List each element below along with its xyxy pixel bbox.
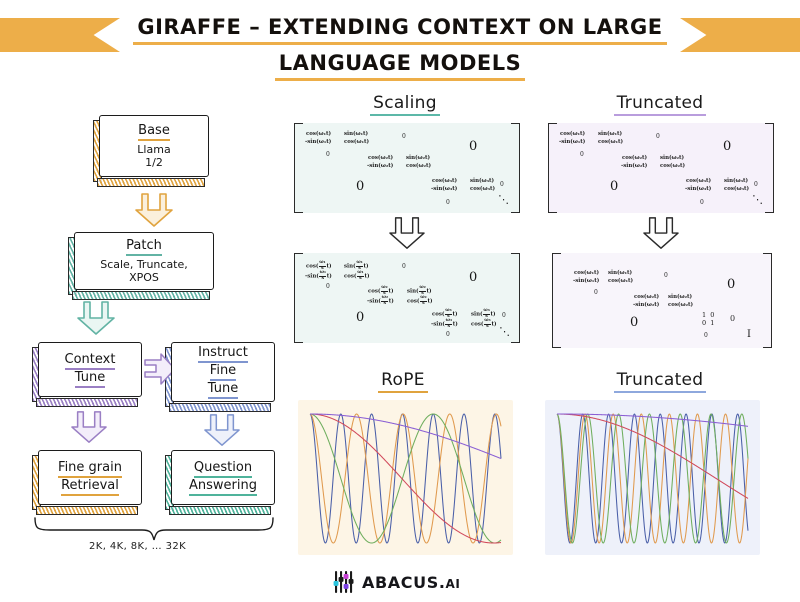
cell-r6c1: -sin(ω₃t) <box>685 186 711 193</box>
cell-r5c1: cos(ω₃t) <box>686 178 711 185</box>
identity-block-row1: 1 0 <box>702 311 714 319</box>
cell-scaled-r5c1: cos(ω₃st) <box>432 309 458 319</box>
chart-rope <box>298 400 513 555</box>
ellipsis-diagonal: ⋱ <box>498 193 510 206</box>
instruct-box-shadow-bottom <box>169 403 271 412</box>
zero-big-bottom-left: 0 <box>610 179 618 194</box>
heading-rope-plot-label: RoPE <box>378 370 428 393</box>
finegrain-box-shadow-bottom <box>36 506 138 515</box>
cell-scaled-r3c1: cos(ω₂st) <box>368 286 394 296</box>
flowchart-caption: 2K, 4K, 8K, … 32K <box>89 541 186 552</box>
chart-truncated-svg <box>545 400 760 555</box>
page-title: GIRAFFE – EXTENDING CONTEXT ON LARGE LAN… <box>130 14 670 81</box>
matrix-truncated-bottom: cos(ω₁t) sin(ω₁t) -sin(ω₁t) cos(ω₁t) 0 0… <box>552 253 772 348</box>
zero-small-3: 0 <box>754 181 758 188</box>
matrix-scaling-top: cos(ω₁t) sin(ω₁t) -sin(ω₁t) cos(ω₁t) 0 0… <box>294 123 520 213</box>
cell-r1c2: sin(ω₁t) <box>608 270 632 277</box>
heading-truncated-plot: Truncated <box>590 370 730 390</box>
arrow-scaling-down <box>388 216 426 252</box>
chart-series-line <box>310 414 501 543</box>
flow-box-question-sub1: Answering <box>189 478 257 496</box>
cell-r3c1: cos(ω₂t) <box>622 155 647 162</box>
cell-r3c1: cos(ω₂t) <box>634 294 659 301</box>
cell-r4c2: cos(ω₂t) <box>660 163 685 170</box>
arrow-patch-to-context <box>76 300 116 338</box>
title-line-1: GIRAFFE – EXTENDING CONTEXT ON LARGE <box>133 14 666 45</box>
zero-big-top-right: 0 <box>469 139 477 154</box>
chart-truncated <box>545 400 760 555</box>
cell-scaled-r2c1: -sin(ω₁st) <box>305 271 332 281</box>
flow-box-question-answering[interactable]: Question Answering <box>171 450 275 505</box>
cell-r2c2: cos(ω₁t) <box>344 139 369 146</box>
zero-small-1: 0 <box>594 289 598 296</box>
arrow-base-to-patch <box>134 192 174 230</box>
cell-r1c1: cos(ω₁t) <box>560 131 585 138</box>
flow-box-patch-sub1: Scale, Truncate, <box>100 258 188 271</box>
cell-r1c2: sin(ω₁t) <box>344 131 368 138</box>
zero-small-1: 0 <box>326 283 330 290</box>
flow-box-question-title: Question <box>194 460 252 478</box>
flow-box-patch-title: Patch <box>126 238 162 256</box>
heading-scaling-label: Scaling <box>370 93 440 116</box>
bracket-right <box>765 123 774 213</box>
flow-box-context-tune-title: Context <box>65 352 116 370</box>
cell-r1c2: sin(ω₁t) <box>598 131 622 138</box>
cell-r6c1: -sin(ω₃t) <box>431 186 457 193</box>
cell-r4c1: -sin(ω₂t) <box>367 163 393 170</box>
ellipsis-diagonal: ⋱ <box>499 325 511 338</box>
flow-box-instruct-fine-tune[interactable]: Instruct Fine Tune <box>171 342 275 402</box>
abacus-logo-text: ABACUS.AI <box>362 573 460 592</box>
cell-scaled-r2c2: cos(ω₁st) <box>344 271 370 281</box>
heading-truncated-matrix: Truncated <box>590 93 730 113</box>
matrix-truncated-top: cos(ω₁t) sin(ω₁t) -sin(ω₁t) cos(ω₁t) 0 0… <box>548 123 774 213</box>
base-box-shadow-bottom <box>97 178 205 187</box>
zero-small-3: 0 <box>730 314 735 323</box>
zero-big-bottom-left: 0 <box>356 310 364 325</box>
chart-series-line <box>310 414 501 543</box>
bracket-right <box>763 253 772 348</box>
flow-box-base-sub2: 1/2 <box>145 156 163 169</box>
heading-truncated-plot-label: Truncated <box>614 370 707 393</box>
cell-r5c2: sin(ω₃t) <box>724 178 748 185</box>
flow-box-context-tune[interactable]: Context Tune <box>38 342 142 397</box>
heading-rope-plot: RoPE <box>348 370 458 390</box>
arrow-instruct-to-question <box>203 413 241 449</box>
cell-r4c1: -sin(ω₂t) <box>621 163 647 170</box>
flowchart-brace <box>32 516 276 542</box>
cell-r6c2: cos(ω₃t) <box>724 186 749 193</box>
flow-box-finegrain-sub1: Retrieval <box>61 478 119 496</box>
heading-scaling: Scaling <box>340 93 470 113</box>
abacus-logo-icon <box>333 570 355 594</box>
cell-r2c2: cos(ω₁t) <box>598 139 623 146</box>
cell-r5c1: cos(ω₃t) <box>432 178 457 185</box>
zero-small-3: 0 <box>500 181 504 188</box>
zero-big-top-right: 0 <box>723 139 731 154</box>
flow-box-instruct-sub1: Fine <box>210 363 236 381</box>
cell-r4c2: cos(ω₂t) <box>406 163 431 170</box>
chart-series-line <box>310 414 501 543</box>
cell-r5c2: sin(ω₃t) <box>470 178 494 185</box>
cell-r2c1: -sin(ω₁t) <box>573 278 599 285</box>
matrix-scaling-bottom: cos(ω₁st) sin(ω₁st) -sin(ω₁st) cos(ω₁st)… <box>294 253 520 343</box>
cell-r3c2: sin(ω₂t) <box>406 155 430 162</box>
zero-small-4: 0 <box>446 199 450 206</box>
cell-r3c2: sin(ω₂t) <box>660 155 684 162</box>
cell-r6c2: cos(ω₃t) <box>470 186 495 193</box>
cell-r3c2: sin(ω₂t) <box>668 294 692 301</box>
logo-dot: . <box>439 573 446 592</box>
cell-scaled-r4c1: -sin(ω₂st) <box>367 296 394 306</box>
question-box-shadow-bottom <box>169 506 271 515</box>
zero-big-top-right: 0 <box>469 270 477 285</box>
zero-small-1: 0 <box>326 151 330 158</box>
flow-box-base[interactable]: Base Llama 1/2 <box>99 115 209 177</box>
abacus-logo: ABACUS.AI <box>333 570 460 594</box>
flow-box-finegrain-title: Fine grain <box>58 460 122 478</box>
flow-box-patch[interactable]: Patch Scale, Truncate, XPOS <box>74 232 214 290</box>
identity-symbol: I <box>747 329 751 340</box>
patch-box-shadow-bottom <box>72 291 210 300</box>
context-box-shadow-bottom <box>36 398 138 407</box>
zero-big-bottom-left: 0 <box>356 179 364 194</box>
logo-name: ABACUS <box>362 573 439 592</box>
bracket-left <box>552 253 561 348</box>
flow-box-instruct-title: Instruct <box>198 345 248 363</box>
cell-r4c1: -sin(ω₂t) <box>633 302 659 309</box>
cell-scaled-r6c2: cos(ω₃st) <box>471 319 497 329</box>
cell-r2c1: -sin(ω₁t) <box>559 139 585 146</box>
cell-scaled-r4c2: cos(ω₂st) <box>407 296 433 306</box>
zero-small-4: 0 <box>700 199 704 206</box>
zero-big-bottom-left: 0 <box>630 315 638 330</box>
zero-big-top-right: 0 <box>727 277 735 292</box>
bracket-left <box>294 123 303 213</box>
logo-suffix: AI <box>446 577 461 591</box>
ribbon-left-tail <box>0 18 120 52</box>
zero-small-3: 0 <box>502 312 506 319</box>
title-line-2: LANGUAGE MODELS <box>275 50 526 81</box>
chart-rope-svg <box>298 400 513 555</box>
cell-r2c1: -sin(ω₁t) <box>305 139 331 146</box>
identity-block-row2: 0 1 <box>702 319 714 327</box>
heading-truncated-matrix-label: Truncated <box>614 93 707 116</box>
cell-scaled-r6c1: -sin(ω₃st) <box>431 319 458 329</box>
zero-small-1: 0 <box>580 151 584 158</box>
zero-small-2: 0 <box>402 133 406 140</box>
cell-r4c2: cos(ω₂t) <box>668 302 693 309</box>
bracket-right <box>511 123 520 213</box>
zero-small-4: 0 <box>704 332 708 339</box>
cell-r2c2: cos(ω₁t) <box>608 278 633 285</box>
bracket-left <box>294 253 303 343</box>
chart-series-line <box>557 414 748 543</box>
flow-box-fine-grain-retrieval[interactable]: Fine grain Retrieval <box>38 450 142 505</box>
zero-small-4: 0 <box>446 331 450 338</box>
zero-small-2: 0 <box>656 133 660 140</box>
cell-scaled-r1c1: cos(ω₁st) <box>306 261 332 271</box>
flow-box-instruct-sub2: Tune <box>208 381 238 399</box>
bracket-left <box>548 123 557 213</box>
arrow-context-to-finegrain <box>70 410 108 446</box>
chart-series-line <box>310 414 501 543</box>
ribbon-right-tail <box>680 18 800 52</box>
cell-r1c1: cos(ω₁t) <box>574 270 599 277</box>
cell-r1c1: cos(ω₁t) <box>306 131 331 138</box>
bracket-right <box>511 253 520 343</box>
zero-small-2: 0 <box>402 263 406 270</box>
flow-box-context-tune-sub1: Tune <box>75 370 105 388</box>
flow-box-patch-sub2: XPOS <box>129 271 159 284</box>
flow-box-base-sub1: Llama <box>137 143 170 156</box>
ellipsis-diagonal: ⋱ <box>752 193 764 206</box>
flow-box-base-title: Base <box>138 123 170 141</box>
zero-small-2: 0 <box>664 272 668 279</box>
arrow-truncated-down <box>642 216 680 252</box>
cell-r3c1: cos(ω₂t) <box>368 155 393 162</box>
